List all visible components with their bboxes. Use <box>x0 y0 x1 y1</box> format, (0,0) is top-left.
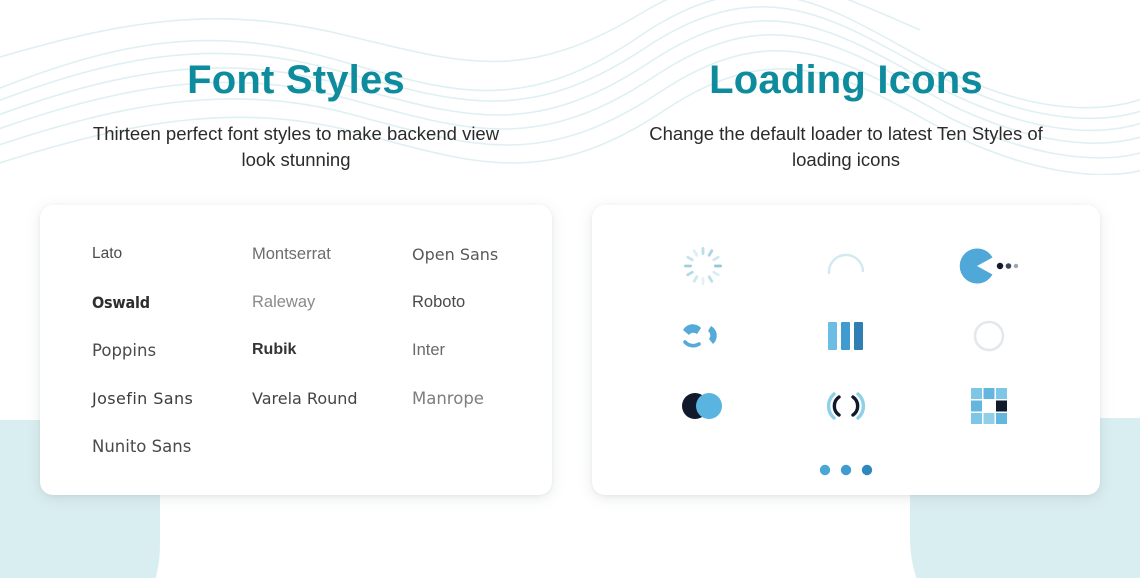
sections-container: Font Styles Thirteen perfect font styles… <box>0 0 1140 578</box>
font-item-varela-round[interactable]: Varela Round <box>252 389 412 408</box>
grid-squares-loader-icon <box>969 386 1009 426</box>
dual-comma-spinner-icon <box>677 316 729 356</box>
loader-cell-8[interactable] <box>775 371 918 441</box>
two-circles-loader-icon <box>676 388 730 424</box>
arc-spinner-icon <box>823 243 869 289</box>
loading-icons-card <box>592 205 1100 495</box>
loading-icons-section: Loading Icons Change the default loader … <box>572 0 1140 578</box>
loader-cell-9[interactable] <box>917 371 1060 441</box>
loader-cell-5[interactable] <box>775 301 918 371</box>
page-root: Font Styles Thirteen perfect font styles… <box>0 0 1140 578</box>
loader-cell-4[interactable] <box>632 301 775 371</box>
loading-icons-subtitle: Change the default loader to latest Ten … <box>631 121 1061 174</box>
font-item-rubik[interactable]: Rubik <box>252 341 412 360</box>
plain-ring-loader-icon <box>971 318 1007 354</box>
font-styles-subtitle: Thirteen perfect font styles to make bac… <box>81 121 511 174</box>
loader-cell-3[interactable] <box>917 231 1060 301</box>
font-item-oswald[interactable]: Oswald <box>92 293 252 312</box>
font-styles-card: Lato Montserrat Open Sans Oswald Raleway… <box>40 205 552 495</box>
font-item-josefin-sans[interactable]: Josefin Sans <box>92 389 252 408</box>
three-bars-loader-icon <box>823 319 869 353</box>
loading-icons-heading: Loading Icons <box>709 58 983 103</box>
spokes-spinner-icon <box>682 245 724 287</box>
three-dots-loader-icon <box>817 460 875 480</box>
font-list-grid: Lato Montserrat Open Sans Oswald Raleway… <box>92 245 508 456</box>
loader-cell-1[interactable] <box>632 231 775 301</box>
loader-cell-6[interactable] <box>917 301 1060 371</box>
loader-cell-2[interactable] <box>775 231 918 301</box>
font-item-roboto[interactable]: Roboto <box>412 293 508 312</box>
loader-grid <box>632 231 1060 475</box>
font-item-nunito-sans[interactable]: Nunito Sans <box>92 437 252 456</box>
font-item-poppins[interactable]: Poppins <box>92 341 252 360</box>
font-item-inter[interactable]: Inter <box>412 341 508 360</box>
loader-cell-7[interactable] <box>632 371 775 441</box>
double-arc-loader-icon <box>824 386 868 426</box>
font-item-montserrat[interactable]: Montserrat <box>252 245 412 264</box>
font-styles-heading: Font Styles <box>187 58 405 103</box>
font-item-manrope[interactable]: Manrope <box>412 389 508 408</box>
font-item-raleway[interactable]: Raleway <box>252 293 412 312</box>
font-item-lato[interactable]: Lato <box>92 245 252 264</box>
font-styles-section: Font Styles Thirteen perfect font styles… <box>0 0 572 578</box>
pacman-loader-icon <box>958 246 1020 286</box>
font-item-open-sans[interactable]: Open Sans <box>412 245 508 264</box>
loader-cell-10[interactable] <box>775 441 918 499</box>
